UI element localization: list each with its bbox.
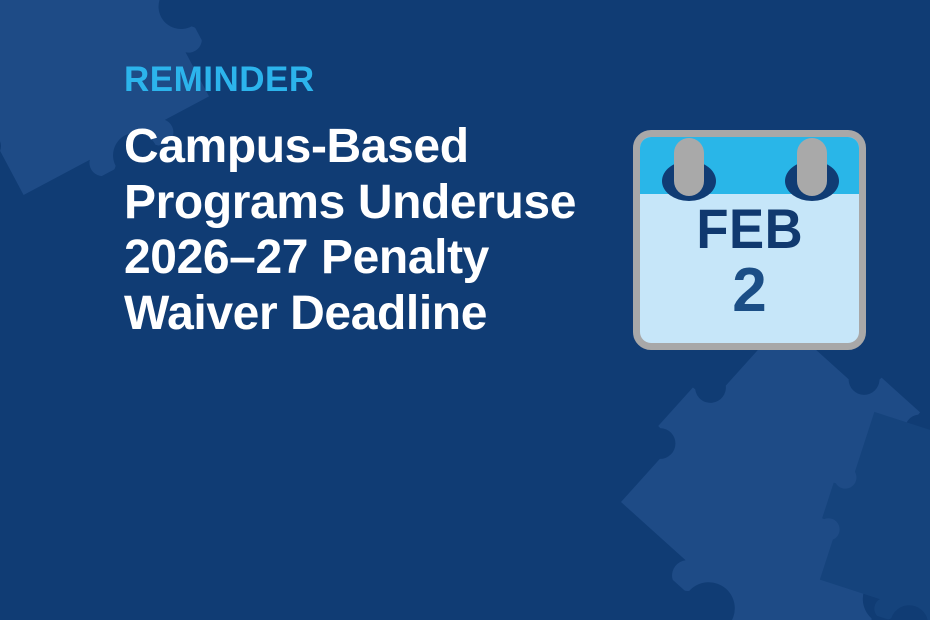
headline-line-2: Programs Underuse (124, 175, 644, 231)
reminder-graphic: REMINDER Campus-Based Programs Underuse … (0, 0, 930, 620)
headline-line-3: 2026–27 Penalty (124, 230, 644, 286)
calendar-date-area: FEB 2 (640, 194, 859, 343)
page-title: Campus-Based Programs Underuse 2026–27 P… (124, 119, 644, 342)
calendar-body: FEB 2 (633, 130, 866, 350)
headline-line-4: Waiver Deadline (124, 286, 644, 342)
calendar-ring-left-icon (674, 138, 704, 196)
puzzle-piece-bottom-right-faint-icon (799, 391, 930, 620)
calendar-icon: FEB 2 (633, 106, 866, 350)
text-block: REMINDER Campus-Based Programs Underuse … (124, 62, 644, 342)
headline-line-1: Campus-Based (124, 119, 644, 175)
calendar-month-label: FEB (696, 200, 803, 257)
calendar-ring-right-icon (797, 138, 827, 196)
calendar-day-label: 2 (732, 259, 766, 322)
eyebrow-label: REMINDER (124, 62, 644, 97)
